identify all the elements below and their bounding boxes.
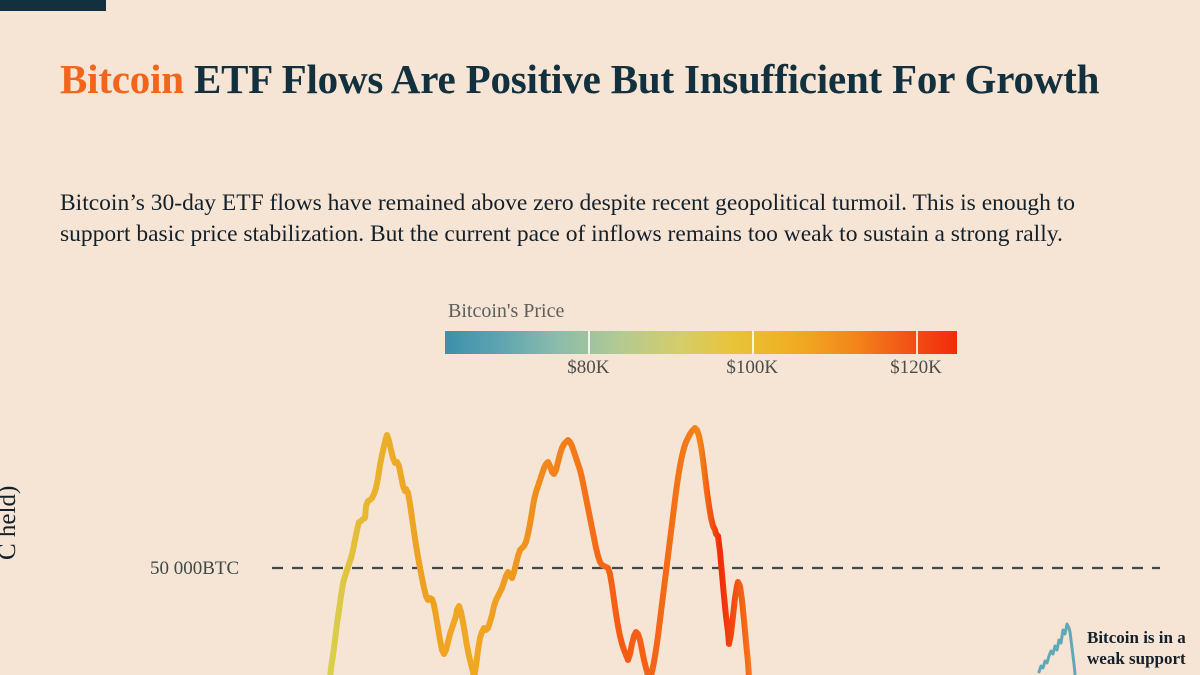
headline-accent-word: Bitcoin	[60, 56, 184, 102]
legend-label-80k: $80K	[567, 357, 609, 379]
legend-title: Bitcoin's Price	[448, 300, 957, 322]
legend-tick-1	[588, 331, 590, 354]
legend-tick-2	[752, 331, 754, 354]
legend-label-100k: $100K	[726, 357, 778, 379]
page-subtitle: Bitcoin’s 30-day ETF flows have remained…	[60, 188, 1150, 250]
headline-rest: ETF Flows Are Positive But Insufficient …	[184, 56, 1099, 102]
top-accent-bar	[0, 0, 106, 11]
infographic-root: Bitcoin ETF Flows Are Positive But Insuf…	[0, 0, 1200, 675]
weak-support-callout: Bitcoin is in a weak support	[1036, 618, 1186, 675]
line-chart	[0, 400, 1200, 675]
y-axis-label: nds Flow C held)	[0, 300, 22, 560]
color-legend: Bitcoin's Price $80K $100K $120K	[445, 300, 957, 383]
callout-text: Bitcoin is in a weak support	[1087, 618, 1186, 669]
callout-line2: weak support	[1087, 649, 1186, 668]
callout-line1: Bitcoin is in a	[1087, 628, 1186, 647]
legend-label-120k: $120K	[890, 357, 942, 379]
legend-gradient-bar	[445, 331, 957, 354]
chart-svg	[0, 400, 1200, 675]
page-title: Bitcoin ETF Flows Are Positive But Insuf…	[60, 55, 1170, 104]
sparkline-icon	[1036, 618, 1078, 675]
legend-tick-3	[916, 331, 918, 354]
legend-tick-labels: $80K $100K $120K	[445, 357, 957, 383]
flow-line-series	[330, 428, 749, 675]
y-axis-label-line2: C held)	[0, 300, 22, 560]
reference-gridline-label: 50 000BTC	[150, 558, 239, 580]
